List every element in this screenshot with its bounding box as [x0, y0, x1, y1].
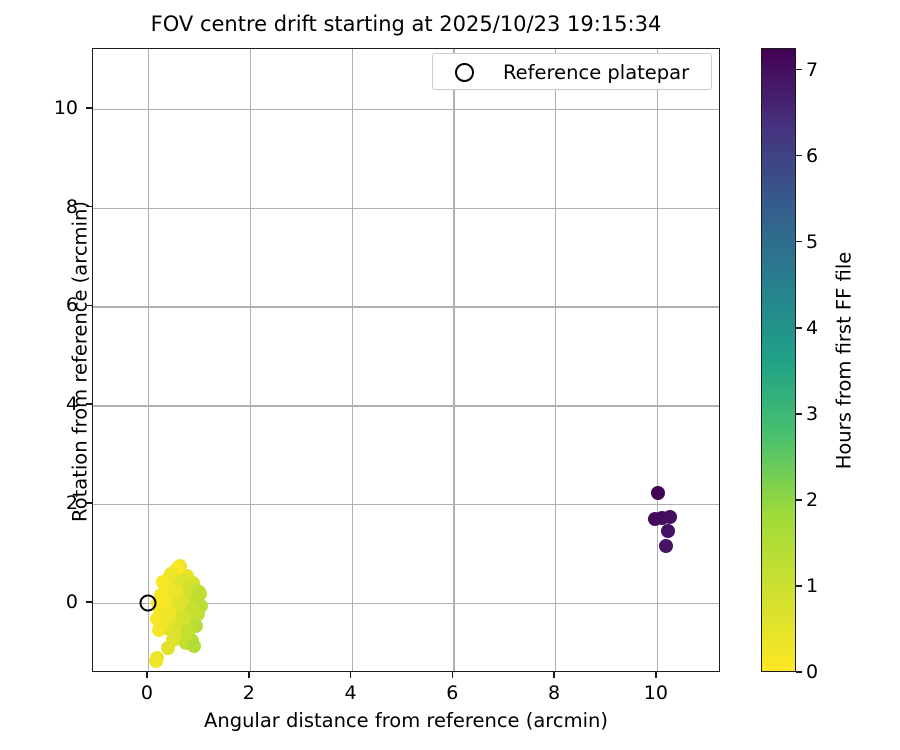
colorbar-gradient: [761, 48, 796, 672]
scatter-point: [192, 585, 206, 599]
x-axis-label: Angular distance from reference (arcmin): [92, 709, 720, 732]
colorbar-tick-label: 2: [806, 489, 818, 511]
scatter-point: [651, 486, 665, 500]
x-tick-label: 8: [548, 682, 560, 704]
gridline-horizontal: [93, 405, 719, 406]
colorbar-tick: [796, 671, 802, 673]
gridline-horizontal: [93, 504, 719, 505]
open-circle-icon: [455, 63, 474, 82]
matplotlib-figure: FOV centre drift starting at 2025/10/23 …: [0, 0, 900, 750]
legend-label: Reference platepar: [503, 61, 689, 84]
colorbar-tick-label: 3: [806, 403, 818, 425]
colorbar-tick: [796, 499, 802, 501]
colorbar-tick-label: 5: [806, 231, 818, 253]
colorbar-tick-label: 0: [806, 661, 818, 683]
x-tick: [350, 672, 352, 678]
x-tick-label: 0: [141, 682, 153, 704]
colorbar-tick-label: 1: [806, 575, 818, 597]
scatter-point: [154, 619, 168, 633]
x-tick: [248, 672, 250, 678]
gridline-horizontal: [93, 306, 719, 307]
colorbar-tick: [796, 241, 802, 243]
x-tick-label: 2: [243, 682, 255, 704]
gridline-horizontal: [93, 208, 719, 209]
x-tick: [655, 672, 657, 678]
y-axis-label: Rotation from reference (arcmin): [69, 50, 92, 674]
scatter-point: [149, 654, 163, 668]
colorbar-tick-label: 4: [806, 317, 818, 339]
colorbar-tick: [796, 585, 802, 587]
colorbar-label: Hours from first FF file: [833, 49, 856, 673]
gridline-vertical: [657, 49, 658, 671]
x-tick: [146, 672, 148, 678]
gridline-vertical: [453, 49, 454, 671]
x-tick: [553, 672, 555, 678]
colorbar-tick-label: 7: [806, 59, 818, 81]
gridline-vertical: [250, 49, 251, 671]
colorbar-tick: [796, 413, 802, 415]
scatter-point: [166, 633, 180, 647]
colorbar-tick: [796, 327, 802, 329]
colorbar-tick: [796, 155, 802, 157]
scatter-point: [162, 606, 176, 620]
scatter-point: [659, 539, 673, 553]
page-title: FOV centre drift starting at 2025/10/23 …: [92, 12, 720, 36]
x-tick-label: 6: [446, 682, 458, 704]
gridline-vertical: [352, 49, 353, 671]
scatter-point: [661, 524, 675, 538]
gridline-horizontal: [93, 109, 719, 110]
scatter-point: [187, 639, 201, 653]
scatter-point: [181, 624, 195, 638]
x-tick: [452, 672, 454, 678]
gridline-vertical: [555, 49, 556, 671]
colorbar: 01234567: [761, 48, 796, 672]
x-tick-label: 10: [644, 682, 668, 704]
colorbar-tick: [796, 69, 802, 71]
colorbar-tick-label: 6: [806, 145, 818, 167]
gridline-vertical: [148, 49, 149, 671]
x-tick-label: 4: [344, 682, 356, 704]
reference-platepar-marker: [139, 594, 156, 611]
legend-box[interactable]: Reference platepar: [432, 53, 712, 90]
plot-axes: [92, 48, 720, 672]
scatter-point: [663, 510, 677, 524]
